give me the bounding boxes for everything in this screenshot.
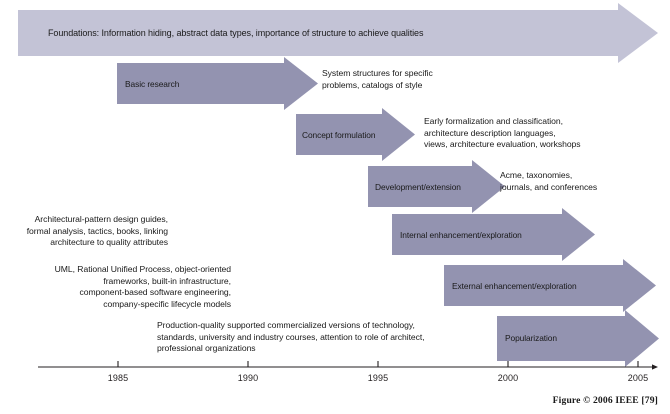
- arrow-label-concept-formulation: Concept formulation: [302, 130, 375, 140]
- annotation-line: frameworks, built-in infrastructure,: [23, 276, 231, 288]
- annotation-line: journals, and conferences: [500, 182, 597, 194]
- axis-tick-label-2005: 2005: [618, 373, 658, 383]
- arrow-label-foundations: Foundations: Information hiding, abstrac…: [48, 28, 423, 39]
- timeline-axis-group: [38, 361, 658, 370]
- annotation-line: problems, catalogs of style: [322, 80, 433, 92]
- annotation-line: component-based software engineering,: [23, 287, 231, 299]
- axis-tick-label-1990: 1990: [228, 373, 268, 383]
- arrow-label-basic-research: Basic research: [125, 79, 179, 89]
- annotation-line: professional organizations: [157, 343, 425, 355]
- axis-tick-label-1985: 1985: [98, 373, 138, 383]
- arrow-label-popularization: Popularization: [505, 333, 557, 343]
- annotation-line: architecture to quality attributes: [0, 237, 168, 249]
- annotation-uml-rup: UML, Rational Unified Process, object-or…: [23, 264, 231, 310]
- arrow-label-internal-enhancement: Internal enhancement/exploration: [400, 230, 522, 240]
- annotation-line: UML, Rational Unified Process, object-or…: [23, 264, 231, 276]
- annotation-production-quality: Production-quality supported commerciali…: [157, 320, 425, 355]
- arrow-label-external-enhancement: External enhancement/exploration: [452, 281, 577, 291]
- annotation-line: Early formalization and classification,: [424, 116, 581, 128]
- annotation-line: company-specific lifecycle models: [23, 299, 231, 311]
- axis-tick-label-1995: 1995: [358, 373, 398, 383]
- annotation-line: Production-quality supported commerciali…: [157, 320, 425, 332]
- arrow-label-development-extension: Development/extension: [375, 182, 461, 192]
- annotation-line: System structures for specific: [322, 68, 433, 80]
- annotation-line: standards, university and industry cours…: [157, 332, 425, 344]
- annotation-acme-taxonomies: Acme, taxonomies,journals, and conferenc…: [500, 170, 597, 193]
- annotation-architectural-pattern: Architectural-pattern design guides,form…: [0, 214, 168, 249]
- axis-arrowhead-icon: [652, 364, 658, 369]
- figure-timeline-software-architecture: Foundations: Information hiding, abstrac…: [0, 0, 670, 414]
- figure-credit: Figure © 2006 IEEE [79]: [553, 395, 658, 406]
- annotation-early-formalization: Early formalization and classification,a…: [424, 116, 581, 151]
- annotation-line: views, architecture evaluation, workshop…: [424, 139, 581, 151]
- axis-tick-label-2000: 2000: [488, 373, 528, 383]
- annotation-line: architecture description languages,: [424, 128, 581, 140]
- annotation-line: Architectural-pattern design guides,: [0, 214, 168, 226]
- annotation-line: formal analysis, tactics, books, linking: [0, 226, 168, 238]
- annotation-system-structures: System structures for specificproblems, …: [322, 68, 433, 91]
- annotation-line: Acme, taxonomies,: [500, 170, 597, 182]
